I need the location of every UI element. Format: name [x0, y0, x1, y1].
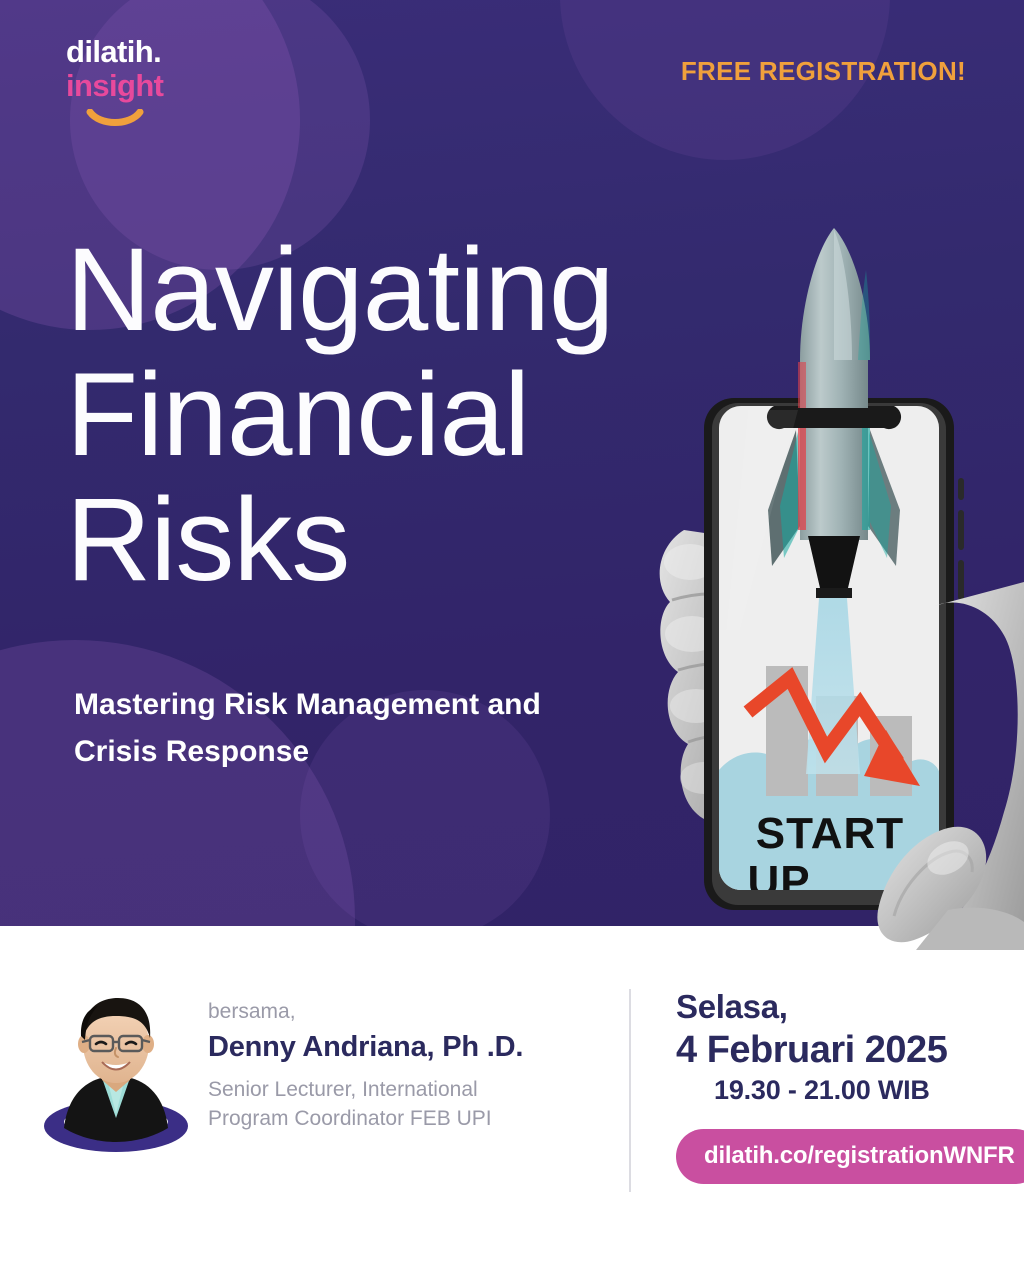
speaker-text: bersama, Denny Andriana, Ph .D. Senior L… [208, 986, 523, 1134]
page-subtitle: Mastering Risk Management and Crisis Res… [74, 682, 541, 775]
speaker-block: bersama, Denny Andriana, Ph .D. Senior L… [40, 986, 585, 1161]
speaker-name: Denny Andriana, Ph .D. [208, 1028, 523, 1067]
schedule-block: Selasa, 4 Februari 2025 19.30 - 21.00 WI… [676, 988, 996, 1184]
logo-text-dilatih: dilatih. [66, 36, 163, 67]
smartphone-device: START UP [704, 228, 964, 910]
vertical-divider [629, 989, 631, 1192]
event-day: Selasa, [676, 988, 996, 1027]
page-title: Navigating Financial Risks [66, 228, 614, 603]
speaker-intro-label: bersama, [208, 998, 523, 1026]
phone-rocket-illustration: START UP [648, 210, 1024, 950]
smile-swoosh-icon [86, 109, 144, 129]
registration-link-button[interactable]: dilatih.co/registrationWNFR [676, 1129, 1024, 1184]
rocket-top-overhang [798, 228, 870, 408]
speaker-role: Senior Lecturer, International Program C… [208, 1076, 523, 1133]
logo-text-insight: insight [66, 70, 163, 101]
footer-panel: bersama, Denny Andriana, Ph .D. Senior L… [0, 926, 1024, 1280]
event-poster: dilatih. insight FREE REGISTRATION! Navi… [0, 0, 1024, 1280]
event-date: 4 Februari 2025 [676, 1029, 996, 1072]
free-registration-badge: FREE REGISTRATION! [681, 56, 966, 87]
event-time: 19.30 - 21.00 WIB [676, 1074, 996, 1106]
avatar [40, 986, 192, 1161]
brand-logo[interactable]: dilatih. insight [66, 36, 163, 101]
screen-label-start: START [756, 809, 904, 858]
